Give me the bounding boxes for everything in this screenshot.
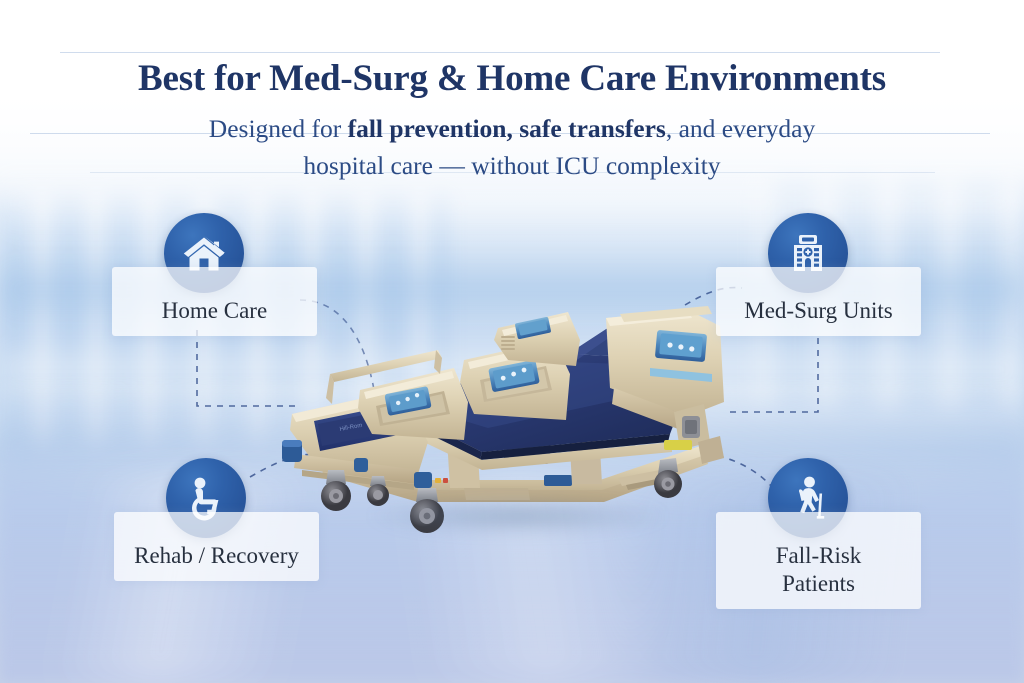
- med-surg-label: Med-Surg Units: [732, 297, 905, 325]
- rehab-label: Rehab / Recovery: [130, 542, 303, 570]
- feature-node-fall-risk[interactable]: Fall-Risk Patients: [716, 458, 921, 609]
- home-care-card: Home Care: [112, 267, 317, 336]
- hospital-bed-image: Hill-Rom: [268, 292, 768, 564]
- bed-ground-shadow: [308, 490, 728, 542]
- headline-block: Best for Med-Surg & Home Care Environmen…: [0, 58, 1024, 184]
- feature-node-home-care[interactable]: Home Care: [112, 213, 317, 336]
- feature-node-rehab[interactable]: Rehab / Recovery: [114, 458, 319, 581]
- bed-side-rail-foot-near: [358, 368, 468, 440]
- feature-node-med-surg[interactable]: Med-Surg Units: [716, 213, 921, 336]
- subtitle-emphasis: fall prevention, safe transfers: [348, 114, 666, 143]
- page-title: Best for Med-Surg & Home Care Environmen…: [0, 58, 1024, 99]
- hairline-top: [60, 52, 940, 53]
- home-care-label: Home Care: [128, 297, 301, 325]
- page-subtitle: Designed for fall prevention, safe trans…: [0, 111, 1024, 183]
- fall-risk-card: Fall-Risk Patients: [716, 512, 921, 609]
- promo-banner: Best for Med-Surg & Home Care Environmen…: [0, 0, 1024, 683]
- subtitle-line2: hospital care — without ICU complexity: [303, 151, 720, 180]
- subtitle-lead: Designed for: [209, 114, 348, 143]
- rehab-card: Rehab / Recovery: [114, 512, 319, 581]
- fall-risk-label: Fall-Risk Patients: [732, 542, 905, 598]
- subtitle-mid: , and everyday: [666, 114, 815, 143]
- bed-side-rail-far: [494, 312, 580, 366]
- med-surg-card: Med-Surg Units: [716, 267, 921, 336]
